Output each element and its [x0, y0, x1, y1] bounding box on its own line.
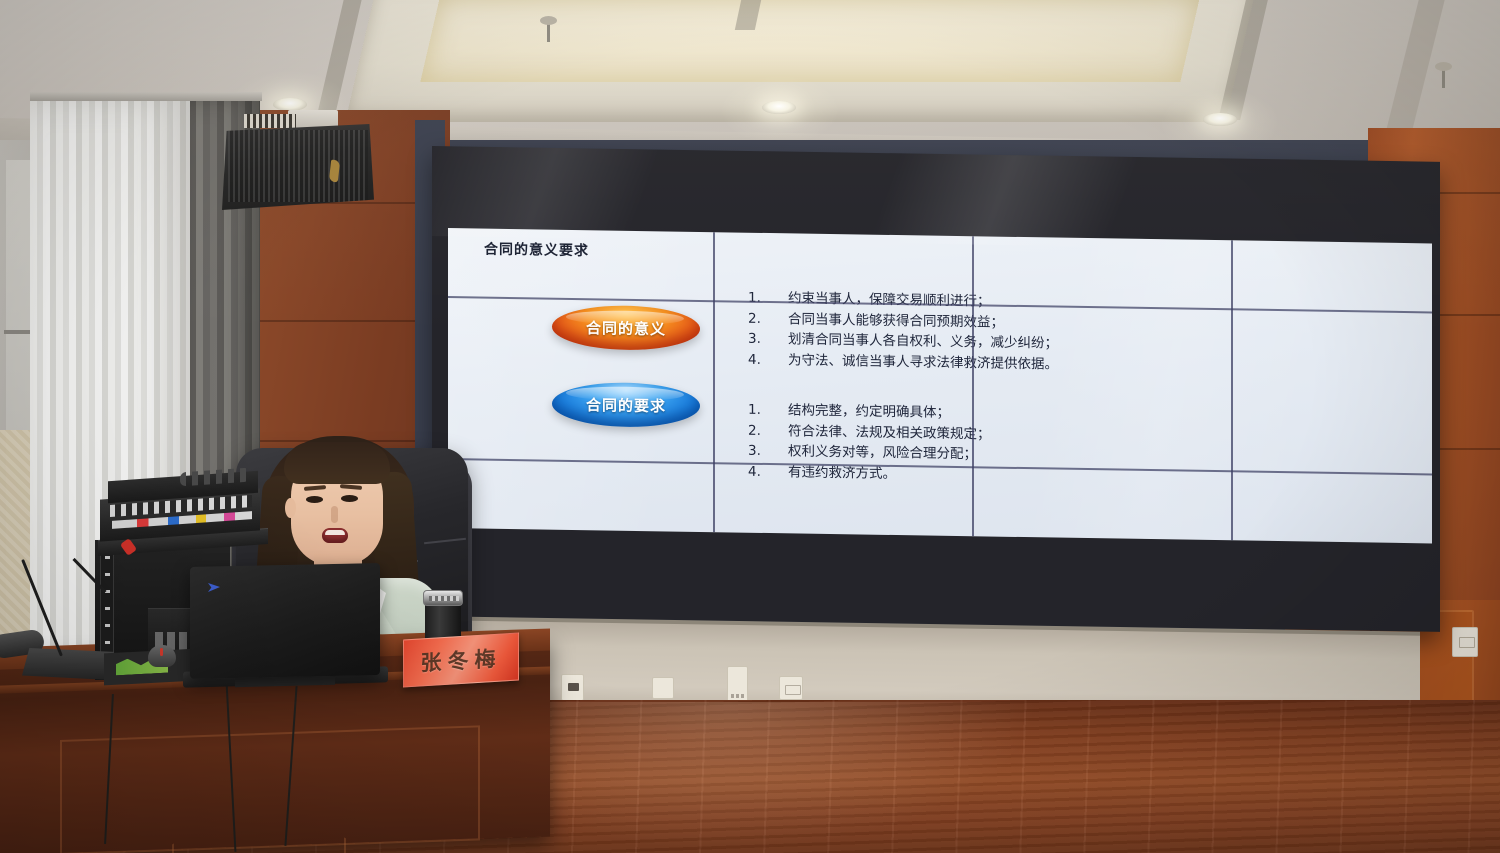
floor-reflection	[520, 702, 1040, 852]
nameplate-text: 张冬梅	[421, 643, 502, 678]
desk-front-panel	[60, 725, 480, 853]
curtain-rod	[30, 92, 262, 101]
panel-bezel-vertical	[713, 232, 715, 532]
blank-wall-plate	[652, 677, 674, 699]
ceiling-downlight	[1203, 113, 1237, 126]
panel-bezel-vertical	[972, 236, 974, 536]
list-item-number: 2.	[748, 308, 788, 329]
list-item: 4. 为守法、诚信当事人寻求法律救济提供依据。	[748, 349, 1058, 374]
ear	[285, 498, 296, 518]
list-item-number: 3.	[748, 329, 788, 350]
badge-contract-meaning: 合同的意义	[552, 305, 700, 351]
list-item-text: 结构完整，约定明确具体；	[788, 400, 950, 423]
list-contract-requirements: 1. 结构完整，约定明确具体； 2. 符合法律、法规及相关政策规定； 3. 权利…	[748, 400, 991, 486]
conference-room-photo: 合同的意义要求 合同的意义 合同的要求 1. 约束当事人，保障交易顺利进行； 2…	[0, 0, 1500, 853]
list-item-number: 4.	[748, 349, 788, 370]
list-item-number: 1.	[748, 288, 788, 309]
wall-speaker	[222, 124, 374, 210]
panel-bezel-vertical	[1231, 240, 1233, 540]
badge-label: 合同的要求	[586, 394, 666, 416]
mouth	[322, 528, 348, 543]
list-item-number: 2.	[748, 420, 788, 441]
ceiling-tray-cove-light	[420, 0, 1199, 82]
list-item-text: 权利义务对等，风险合理分配；	[788, 441, 977, 464]
control-panel-plate[interactable]	[727, 666, 748, 702]
hair-fringe	[284, 442, 390, 484]
nose	[331, 506, 338, 523]
eye-left	[306, 496, 323, 503]
badge-label: 合同的意义	[586, 317, 666, 339]
nameplate: 张冬梅	[403, 632, 519, 687]
computer-mouse[interactable]	[148, 645, 176, 667]
presenter-laptop[interactable]	[190, 563, 380, 679]
power-outlet[interactable]	[1452, 627, 1478, 657]
sprinkler-head-icon	[1440, 62, 1447, 88]
eye-right	[341, 495, 358, 502]
badge-contract-requirement: 合同的要求	[552, 382, 700, 428]
sprinkler-head-icon	[545, 16, 552, 42]
ceiling-downlight	[762, 101, 796, 114]
list-item-number: 3.	[748, 441, 788, 462]
power-outlet[interactable]	[561, 674, 584, 701]
slide-title: 合同的意义要求	[484, 239, 589, 261]
list-item-number: 1.	[748, 400, 788, 421]
network-jack-plate[interactable]	[779, 676, 803, 700]
list-item-text: 为守法、诚信当事人寻求法律救济提供依据。	[788, 350, 1058, 375]
microphone-base[interactable]	[22, 648, 114, 680]
video-wall-screen[interactable]: 合同的意义要求 合同的意义 合同的要求 1. 约束当事人，保障交易顺利进行； 2…	[448, 228, 1432, 543]
vacuum-flask-lid	[423, 590, 463, 606]
